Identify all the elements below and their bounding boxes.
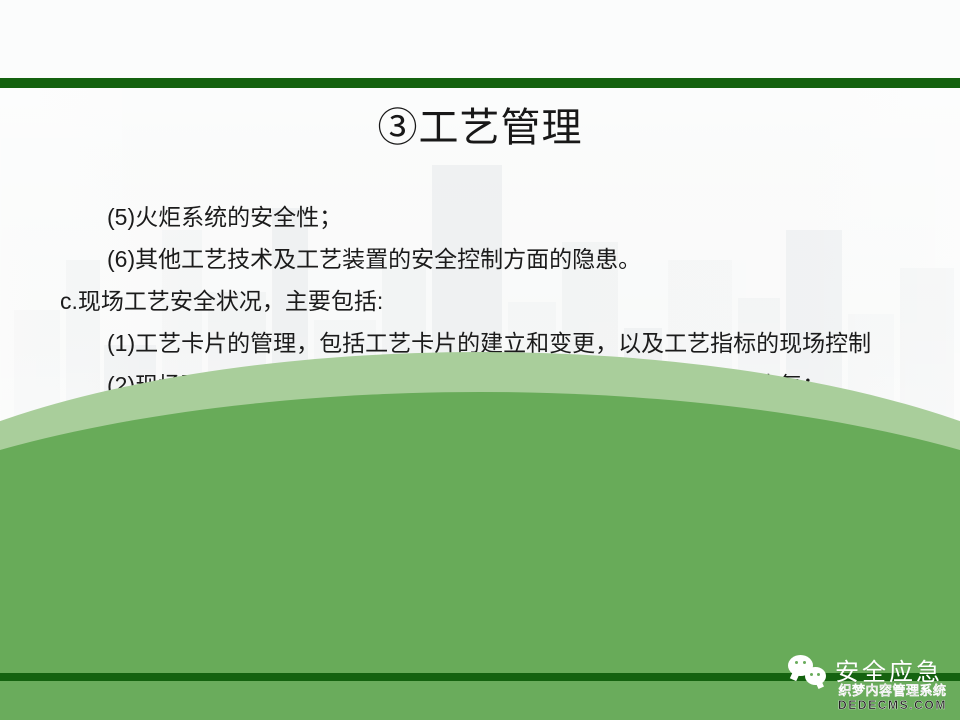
watermark-chinese: 织梦内容管理系统	[838, 684, 947, 698]
bubble-eye	[810, 673, 813, 676]
watermark-english: DEDECMS.COM	[838, 699, 947, 712]
wechat-account-name: 安全应急	[835, 652, 943, 687]
body-line: c.现场工艺安全状况，主要包括:	[0, 280, 960, 322]
bubble-eye	[795, 661, 798, 664]
header-band	[0, 0, 960, 78]
site-watermark: 织梦内容管理系统 DEDECMS.COM	[838, 684, 947, 711]
body-line: (5)火炬系统的安全性；	[0, 196, 960, 238]
page-title: ③工艺管理	[0, 103, 960, 153]
body-line: (6)其他工艺技术及工艺装置的安全控制方面的隐患。	[0, 238, 960, 280]
bubble-eye	[803, 661, 806, 664]
wechat-branding: 安全应急	[788, 652, 943, 687]
header-divider-rule	[0, 78, 960, 88]
bubble-eye	[817, 673, 820, 676]
wechat-icon	[788, 655, 826, 685]
presentation-slide: ③工艺管理 (5)火炬系统的安全性； (6)其他工艺技术及工艺装置的安全控制方面…	[0, 0, 960, 720]
wechat-bubble-small	[805, 667, 826, 685]
